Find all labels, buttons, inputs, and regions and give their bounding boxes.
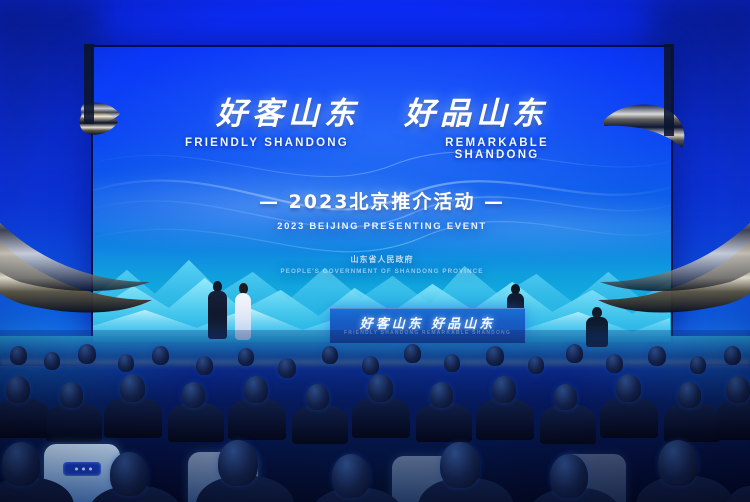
audience-head <box>44 352 60 370</box>
audience-head <box>322 346 338 364</box>
audience-head <box>110 452 148 496</box>
audience-head <box>550 454 588 498</box>
audience-head <box>724 346 741 365</box>
audience-shoulders <box>716 398 750 440</box>
audience-head <box>566 344 583 363</box>
led-stage-screen: 好客山东 好品山东 FRIENDLY SHANDONG REMARKABLE S… <box>93 47 671 342</box>
audience-head <box>554 384 577 410</box>
audience-head <box>6 376 30 403</box>
audience-head <box>120 374 145 402</box>
audience-head <box>332 454 370 498</box>
audience-shoulders <box>416 402 472 442</box>
audience-head <box>486 346 504 366</box>
headline-english: FRIENDLY SHANDONG REMARKABLE SHANDONG <box>93 137 671 161</box>
audience-head <box>152 346 169 365</box>
audience-head <box>78 344 96 364</box>
event-stage-photo: 好客山东 好品山东 FRIENDLY SHANDONG REMARKABLE S… <box>0 0 750 502</box>
chair-seat-tag <box>63 462 101 476</box>
audience-head <box>196 356 213 375</box>
event-subtitle-chinese: — 2023北京推介活动 — <box>93 187 671 214</box>
headline-en-left: FRIENDLY SHANDONG <box>172 137 362 161</box>
organizer-english: PEOPLE'S GOVERNMENT OF SHANDONG PROVINCE <box>93 268 671 275</box>
audience-shoulders <box>600 396 658 438</box>
audience-head <box>278 358 296 378</box>
audience-head <box>616 374 641 402</box>
audience-head <box>306 384 329 410</box>
audience-head <box>440 442 480 488</box>
audience-shoulders <box>476 398 534 440</box>
audience-shoulders <box>228 398 286 440</box>
audience-head <box>244 376 268 403</box>
audience-head <box>492 376 516 403</box>
headline-cn-left: 好客山东 <box>216 99 360 130</box>
headline-cn-right: 好品山东 <box>404 99 548 130</box>
audience-head <box>648 346 666 366</box>
audience-head <box>2 442 40 486</box>
audience-head <box>690 356 706 374</box>
audience-shoulders <box>46 402 102 442</box>
audience-shoulders <box>104 396 162 438</box>
audience-shoulders <box>0 398 50 438</box>
screen-text-block: 好客山东 好品山东 FRIENDLY SHANDONG REMARKABLE S… <box>93 99 671 275</box>
headline-chinese: 好客山东 好品山东 <box>93 99 671 130</box>
audience-head <box>60 382 83 408</box>
audience-head <box>218 440 258 486</box>
organizer-chinese: 山东省人民政府 <box>93 254 671 265</box>
audience-shoulders <box>540 404 596 444</box>
audience-head <box>528 356 544 374</box>
audience-head <box>238 348 254 366</box>
audience-head <box>118 354 134 372</box>
audience-head <box>606 354 623 373</box>
audience-head <box>182 382 205 408</box>
hall-glow-left <box>0 0 100 340</box>
headline-en-right: REMARKABLE SHANDONG <box>402 137 592 161</box>
audience-head <box>362 356 379 375</box>
audience-head <box>404 344 421 363</box>
audience-head <box>430 382 453 408</box>
audience-shoulders <box>292 404 348 444</box>
audience-shoulders <box>664 402 720 442</box>
audience-head <box>678 382 701 408</box>
audience-head <box>368 374 393 402</box>
audience-head <box>658 440 698 486</box>
audience-head <box>10 346 27 365</box>
audience-head <box>726 376 750 403</box>
audience-area <box>0 330 750 502</box>
audience-head <box>444 354 460 372</box>
event-subtitle-english: 2023 BEIJING PRESENTING EVENT <box>93 221 671 232</box>
audience-shoulders <box>168 402 224 442</box>
audience-shoulders <box>352 396 410 438</box>
